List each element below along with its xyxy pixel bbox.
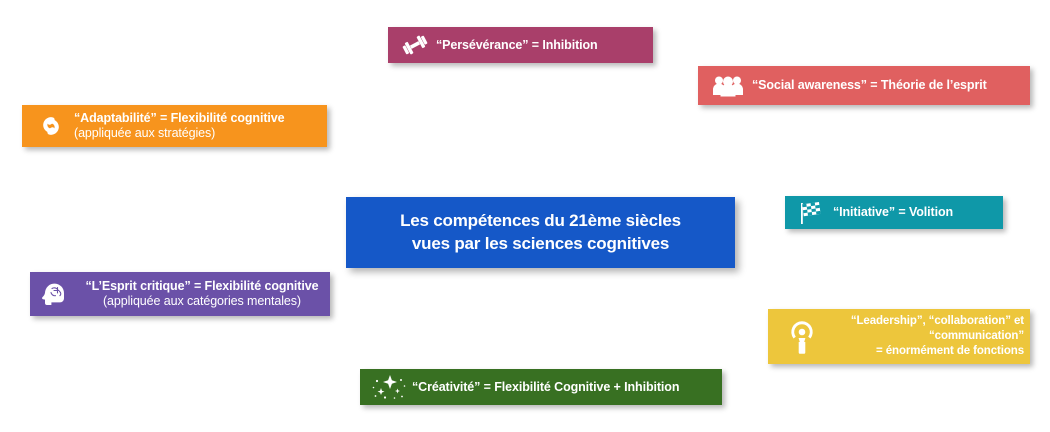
dumbbell-icon <box>398 34 432 56</box>
node-initiative-text: “Initiative” = Volition <box>827 205 1003 220</box>
node-initiative-line1: “Initiative” = Volition <box>833 205 953 219</box>
sparkles-icon <box>368 372 410 402</box>
node-social-awareness[interactable]: “Social awareness” = Théorie de l’esprit <box>698 66 1030 105</box>
node-social-awareness-line1: “Social awareness” = Théorie de l’esprit <box>752 78 987 92</box>
node-perseverance-line1: “Persévérance” = Inhibition <box>436 38 598 52</box>
node-esprit-critique[interactable]: “L’Esprit critique” = Flexibilité cognit… <box>30 272 330 316</box>
center-title-line1: Les compétences du 21ème siècles <box>400 211 681 230</box>
node-social-awareness-text: “Social awareness” = Théorie de l’esprit <box>746 78 1030 93</box>
interlocking-rings-icon <box>34 113 68 139</box>
node-leadership-line2: “communication” <box>929 330 1024 342</box>
node-adaptabilite-line2: (appliquée aux stratégies) <box>74 126 215 140</box>
node-initiative[interactable]: “Initiative” = Volition <box>785 196 1003 229</box>
node-leadership-text: “Leadership”, “collaboration” et “commun… <box>826 314 1030 359</box>
node-leadership-line1: “Leadership”, “collaboration” et <box>851 315 1024 327</box>
node-adaptabilite[interactable]: “Adaptabilité” = Flexibilité cognitive (… <box>22 105 327 147</box>
node-leadership[interactable]: “Leadership”, “collaboration” et “commun… <box>768 309 1030 364</box>
node-adaptabilite-text: “Adaptabilité” = Flexibilité cognitive (… <box>68 111 327 141</box>
broadcast-microphone-icon <box>778 317 826 357</box>
center-title-line2: vues par les sciences cognitives <box>412 234 669 253</box>
head-brain-icon <box>38 280 72 308</box>
node-creativite-text: “Créativité” = Flexibilité Cognitive + I… <box>410 380 722 395</box>
node-adaptabilite-line1: “Adaptabilité” = Flexibilité cognitive <box>74 111 284 125</box>
node-esprit-critique-line2: (appliquée aux catégories mentales) <box>103 294 301 308</box>
checkered-flag-icon <box>795 201 827 225</box>
node-leadership-line3: = énormément de fonctions <box>876 345 1024 357</box>
center-title-text: Les compétences du 21ème siècles vues pa… <box>346 210 735 255</box>
diagram-canvas: Les compétences du 21ème siècles vues pa… <box>0 0 1050 432</box>
people-group-icon <box>710 74 746 98</box>
node-perseverance[interactable]: “Persévérance” = Inhibition <box>388 27 653 63</box>
node-esprit-critique-line1: “L’Esprit critique” = Flexibilité cognit… <box>86 279 319 293</box>
center-title-box: Les compétences du 21ème siècles vues pa… <box>346 197 735 268</box>
node-perseverance-text: “Persévérance” = Inhibition <box>432 38 653 53</box>
node-creativite[interactable]: “Créativité” = Flexibilité Cognitive + I… <box>360 369 722 405</box>
node-creativite-line1: “Créativité” = Flexibilité Cognitive + I… <box>412 380 679 394</box>
node-esprit-critique-text: “L’Esprit critique” = Flexibilité cognit… <box>72 279 330 309</box>
